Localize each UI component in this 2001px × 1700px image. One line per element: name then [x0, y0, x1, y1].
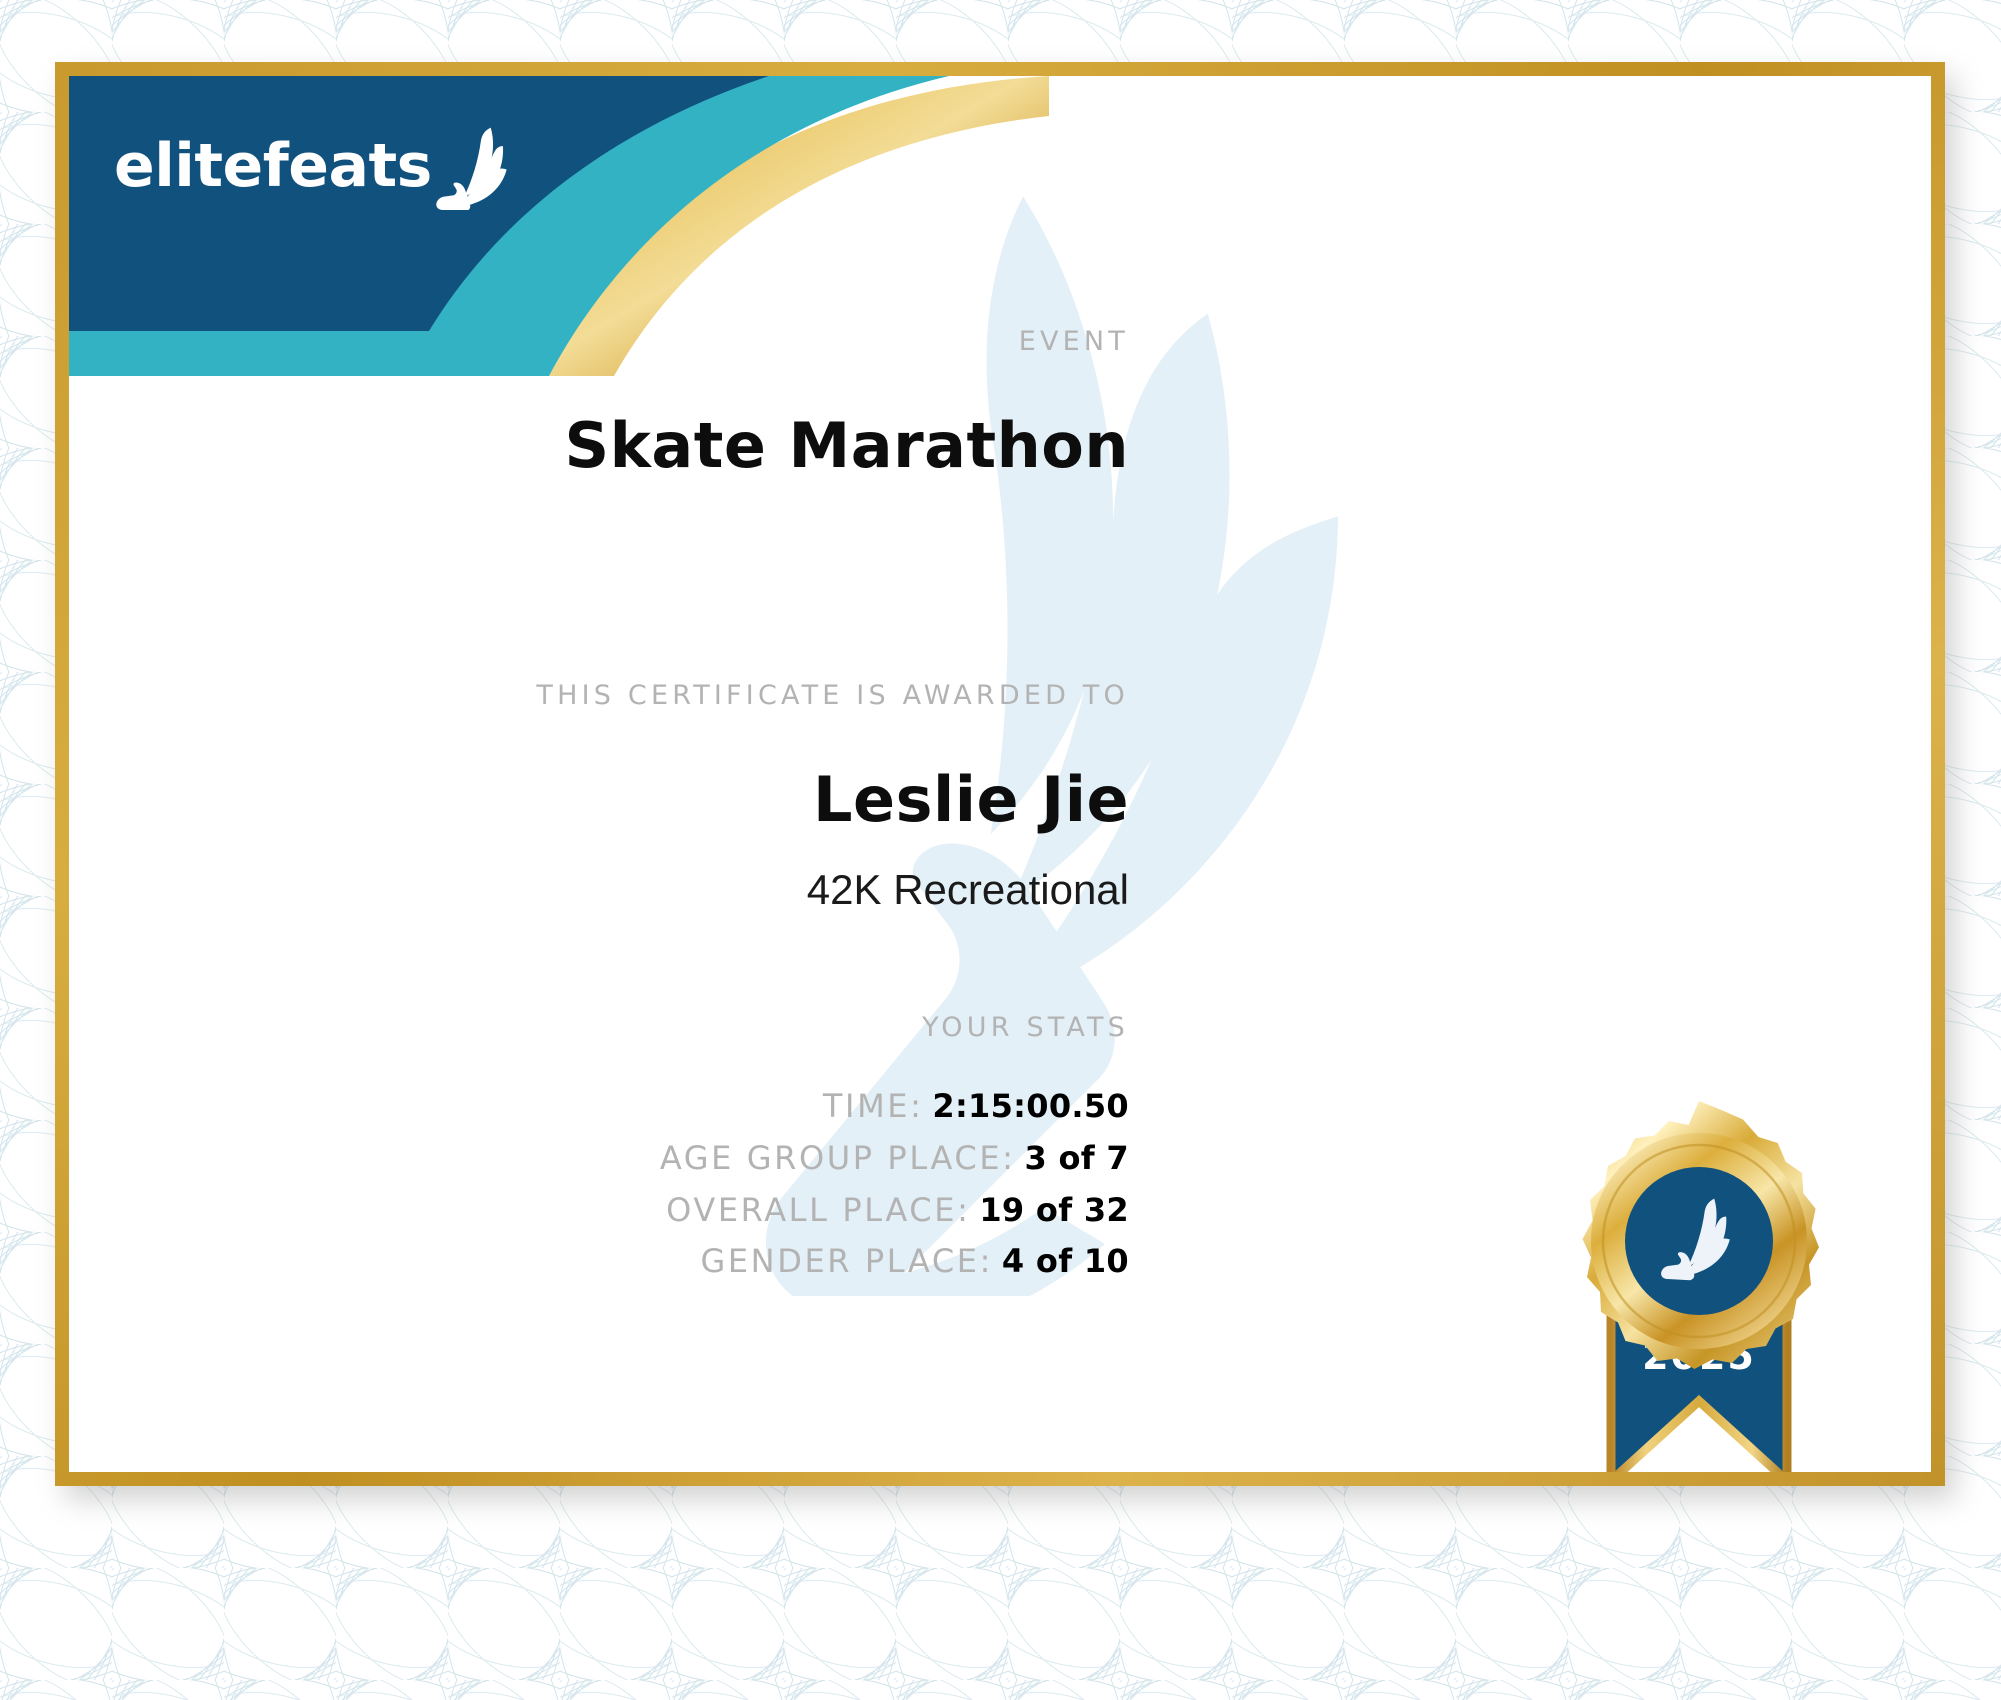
stat-row: TIME: 2:15:00.50	[69, 1081, 1129, 1133]
division-name: 42K Recreational	[69, 866, 1129, 914]
stat-label-time: TIME:	[823, 1087, 924, 1125]
stat-label-age-group-place: AGE GROUP PLACE:	[660, 1139, 1016, 1177]
stat-value-overall-place: 19 of 32	[979, 1191, 1129, 1229]
event-label: EVENT	[69, 326, 1129, 357]
event-name: Skate Marathon	[69, 409, 1129, 482]
gold-medal-ribbon-seal-icon: 2025	[1529, 1101, 1869, 1486]
stat-value-time: 2:15:00.50	[932, 1087, 1129, 1125]
brand-logo-text: elitefeats	[114, 136, 432, 196]
winged-foot-icon	[434, 124, 508, 210]
stat-value-gender-place: 4 of 10	[1002, 1242, 1129, 1280]
brand-logo: elitefeats	[114, 124, 508, 196]
stat-row: GENDER PLACE: 4 of 10	[69, 1236, 1129, 1288]
certificate-frame: elitefeats EVENT Skate Marathon THIS CER…	[55, 62, 1945, 1486]
stats-label: YOUR STATS	[69, 1012, 1129, 1043]
stat-label-overall-place: OVERALL PLACE:	[666, 1191, 970, 1229]
awarded-to-label: THIS CERTIFICATE IS AWARDED TO	[69, 680, 1129, 711]
stat-row: OVERALL PLACE: 19 of 32	[69, 1185, 1129, 1237]
certificate-content: EVENT Skate Marathon THIS CERTIFICATE IS…	[69, 326, 1129, 1288]
recipient-name: Leslie Jie	[69, 763, 1129, 836]
stat-value-age-group-place: 3 of 7	[1024, 1139, 1129, 1177]
stat-row: AGE GROUP PLACE: 3 of 7	[69, 1133, 1129, 1185]
finisher-seal: 2025 FINISHER CERTIFICATE	[1529, 1101, 1869, 1486]
stat-label-gender-place: GENDER PLACE:	[700, 1242, 993, 1280]
